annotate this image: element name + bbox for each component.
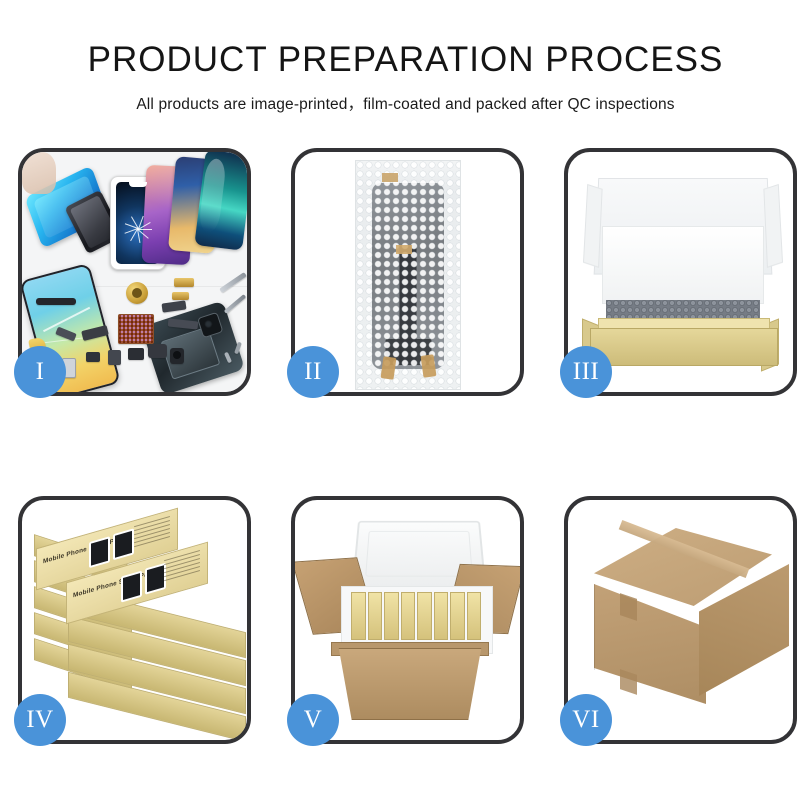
step-badge-4: IV <box>14 694 66 746</box>
small-module-1 <box>128 348 144 360</box>
small-module-3 <box>108 350 121 365</box>
box-print-phone-3 <box>121 571 142 603</box>
white-foam-sheet <box>602 226 764 304</box>
bubble-texture <box>356 161 460 389</box>
copper-shield-plate <box>118 314 154 344</box>
rear-camera-part <box>170 348 184 364</box>
page-title: PRODUCT PREPARATION PROCESS <box>0 42 811 79</box>
box-print-phone-4 <box>145 563 166 595</box>
page-header: PRODUCT PREPARATION PROCESS All products… <box>0 0 811 114</box>
small-module-2 <box>148 344 167 358</box>
carton-edge-seam <box>594 584 595 670</box>
box-print-spec-lines-front <box>164 550 200 586</box>
bubble-wrap-bag <box>355 160 461 390</box>
hand-holding-part <box>22 152 56 194</box>
screen-crack-pattern <box>123 214 153 244</box>
process-step-panel-6: VI <box>564 496 797 744</box>
kraft-tape-1 <box>382 173 398 182</box>
box-print-phone-2 <box>113 528 134 560</box>
screen-glint-1 <box>43 306 90 331</box>
page-subtitle: All products are image-printed，film-coat… <box>0 92 811 114</box>
process-step-grid: I II III <box>18 148 794 744</box>
gold-connector-1 <box>174 278 194 287</box>
process-step-panel-1: I <box>18 148 251 396</box>
process-step-panel-4: Mobile Phone Spare Parts Mobile Phone Sp… <box>18 496 251 744</box>
step-badge-1: I <box>14 346 66 398</box>
box-print-phone-1 <box>89 536 110 568</box>
carton-front-wall <box>329 648 491 720</box>
kraft-tape-3 <box>380 356 396 380</box>
process-step-panel-5: V <box>291 496 524 744</box>
box-print-spec-lines-back <box>134 516 170 552</box>
gold-box-stack: Mobile Phone Spare Parts Mobile Phone Sp… <box>28 514 246 728</box>
step-badge-6: VI <box>560 694 612 746</box>
gold-boxes-inside-carton <box>351 592 481 640</box>
speaker-module-icon <box>126 282 148 304</box>
kraft-tape-4 <box>420 354 436 378</box>
kraft-tape-2 <box>396 245 412 254</box>
gold-connector-2 <box>172 292 189 300</box>
process-step-panel-3: III <box>564 148 797 396</box>
process-step-panel-2: II <box>291 148 524 396</box>
step-badge-3: III <box>560 346 612 398</box>
phone-notch <box>129 182 147 187</box>
step-badge-2: II <box>287 346 339 398</box>
earpiece-bar <box>36 298 76 305</box>
chip-part <box>86 352 100 362</box>
step-badge-5: V <box>287 694 339 746</box>
gold-box-front-wall <box>590 328 778 366</box>
